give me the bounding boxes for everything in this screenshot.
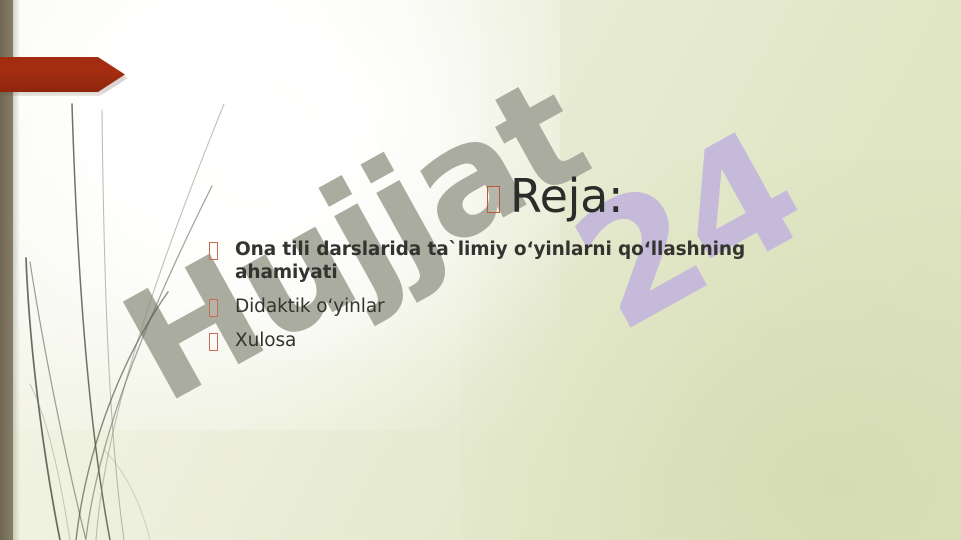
slide-title: Reja: [487, 172, 623, 220]
list-item: Xulosa [209, 329, 849, 352]
title-bullet-icon [487, 186, 500, 213]
list-item-label: Didaktik o‘yinlar [235, 295, 385, 318]
list-item-label: Xulosa [235, 329, 296, 352]
list-item: Ona tili darslarida ta`limiy o‘yinlarni … [209, 238, 849, 285]
bullet-marker-icon [209, 333, 218, 351]
bullet-marker-icon [209, 242, 218, 260]
bullet-list: Ona tili darslarida ta`limiy o‘yinlarni … [209, 238, 849, 361]
presentation-slide: 24 Hujjat Reja: Ona tili dar [0, 0, 961, 540]
slide-content: Reja: Ona tili darslarida ta`limiy o‘yin… [0, 0, 961, 540]
list-item-label: Ona tili darslarida ta`limiy o‘yinlarni … [235, 238, 849, 285]
bullet-marker-icon [209, 299, 218, 317]
list-item: Didaktik o‘yinlar [209, 295, 849, 318]
title-text: Reja: [510, 172, 623, 220]
